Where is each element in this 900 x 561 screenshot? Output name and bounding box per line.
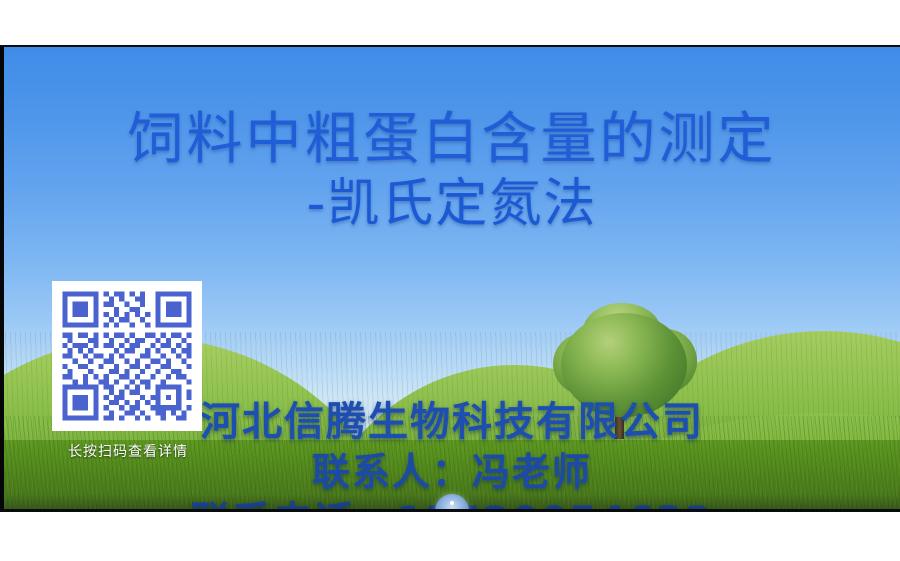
letterbox-bottom [0, 509, 900, 512]
page-bottom-blank-area [0, 512, 900, 561]
qr-code-caption: 长按扫码查看详情 [52, 441, 204, 461]
qr-code-overlay[interactable]: 长按扫码查看详情 [52, 281, 204, 461]
tree-illustration [549, 303, 699, 438]
page-top-blank-area [0, 0, 900, 45]
letterbox-left [0, 45, 4, 512]
letterbox-top [0, 45, 900, 47]
page-root: 饲料中粗蛋白含量的测定 -凯氏定氮法 河北信腾生物科技有限公司 联系人：冯老师 … [0, 0, 900, 561]
video-player[interactable]: 饲料中粗蛋白含量的测定 -凯氏定氮法 河北信腾生物科技有限公司 联系人：冯老师 … [0, 45, 900, 512]
video-frame[interactable]: 饲料中粗蛋白含量的测定 -凯氏定氮法 河北信腾生物科技有限公司 联系人：冯老师 … [4, 45, 900, 512]
tree-canopy-main [561, 313, 687, 417]
qr-code-image[interactable] [52, 281, 202, 431]
